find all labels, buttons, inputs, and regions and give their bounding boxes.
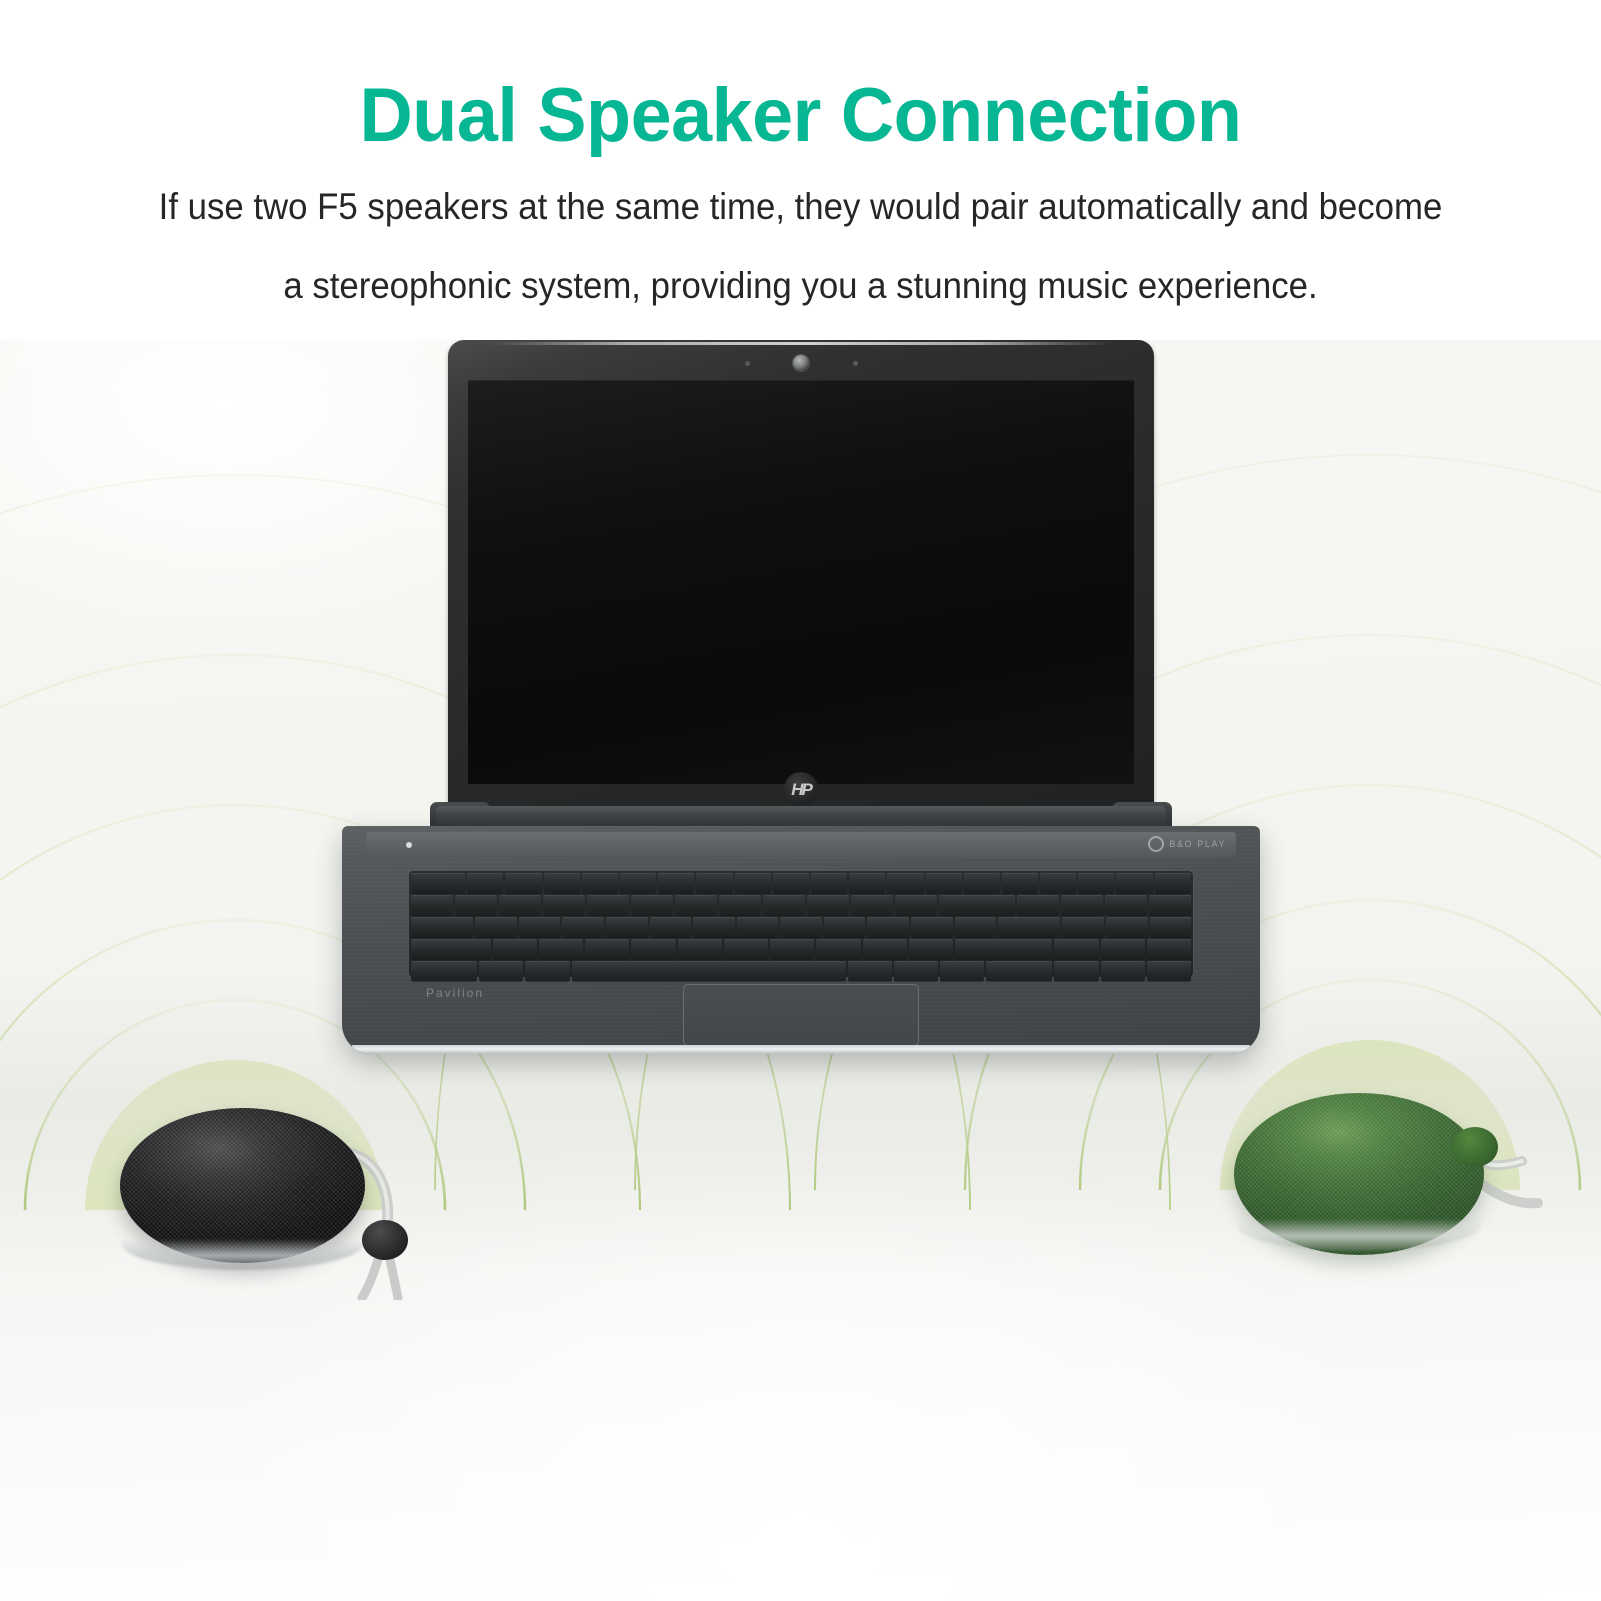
- speaker-left: [110, 1100, 410, 1300]
- key: [658, 873, 694, 893]
- keyboard: [408, 870, 1194, 978]
- key: [675, 895, 717, 915]
- key: [1155, 873, 1191, 893]
- keyboard-row: [411, 873, 1191, 893]
- key: [998, 917, 1060, 937]
- key: [499, 895, 541, 915]
- key: [926, 873, 962, 893]
- laptop: HP B&O PLAY: [336, 340, 1266, 1060]
- key: [525, 961, 569, 981]
- key: [562, 917, 604, 937]
- key: [467, 873, 503, 893]
- key: [955, 917, 997, 937]
- key: [763, 895, 805, 915]
- key: [1147, 939, 1191, 959]
- key: [505, 873, 541, 893]
- key: [1002, 873, 1038, 893]
- microphone-icon: [745, 361, 750, 366]
- key: [411, 961, 477, 981]
- speaker-left-rim: [122, 1218, 363, 1270]
- key: [986, 961, 1052, 981]
- key: [737, 917, 779, 937]
- audio-badge-ring-icon: [1148, 836, 1164, 852]
- laptop-front-edge: [352, 1045, 1250, 1054]
- subtitle-line-2: a stereophonic system, providing you a s…: [48, 225, 1553, 304]
- laptop-speaker-grille: [366, 832, 1236, 858]
- key: [411, 873, 465, 893]
- speaker-right-lanyard-bead: [1452, 1127, 1498, 1167]
- key: [411, 939, 491, 959]
- key: [824, 917, 866, 937]
- key: [696, 873, 732, 893]
- hp-logo-text: HP: [791, 781, 811, 798]
- key: [1078, 873, 1114, 893]
- key: [582, 873, 618, 893]
- key: [678, 939, 722, 959]
- key: [1149, 895, 1191, 915]
- key: [606, 917, 648, 937]
- key: [544, 873, 580, 893]
- product-feature-banner: Dual Speaker Connection If use two F5 sp…: [0, 0, 1601, 1601]
- key: [475, 917, 517, 937]
- key: [867, 917, 909, 937]
- key: [650, 917, 692, 937]
- key: [816, 939, 860, 959]
- key: [479, 961, 523, 981]
- key: [585, 939, 629, 959]
- banner-header: Dual Speaker Connection If use two F5 sp…: [0, 0, 1601, 340]
- key: [735, 873, 771, 893]
- key: [620, 873, 656, 893]
- key: [773, 873, 809, 893]
- key: [1054, 939, 1098, 959]
- key: [1150, 917, 1192, 937]
- webcam-icon: [793, 355, 809, 371]
- key: [631, 939, 675, 959]
- key: [455, 895, 497, 915]
- subtitle-line-1: If use two F5 speakers at the same time,…: [48, 154, 1553, 225]
- key: [909, 939, 953, 959]
- key: [849, 873, 885, 893]
- key: [955, 939, 1052, 959]
- hp-logo-icon: HP: [784, 772, 818, 806]
- key: [493, 939, 537, 959]
- key: [693, 917, 735, 937]
- key: [1101, 961, 1145, 981]
- key: [631, 895, 673, 915]
- key-space: [572, 961, 846, 981]
- key: [940, 961, 984, 981]
- key: [780, 917, 822, 937]
- keyboard-row: [411, 917, 1191, 937]
- key: [539, 939, 583, 959]
- key: [519, 917, 561, 937]
- laptop-model-label: Pavilion: [426, 986, 484, 1000]
- key: [894, 961, 938, 981]
- key: [848, 961, 892, 981]
- key: [1147, 961, 1191, 981]
- power-indicator-icon: [406, 842, 412, 848]
- key: [587, 895, 629, 915]
- key: [895, 895, 937, 915]
- key: [543, 895, 585, 915]
- key: [770, 939, 814, 959]
- trackpad: [683, 984, 919, 1046]
- key: [1054, 961, 1098, 981]
- key: [911, 917, 953, 937]
- audio-brand-badge: B&O PLAY: [1148, 836, 1226, 852]
- key: [887, 873, 923, 893]
- microphone-icon: [853, 361, 858, 366]
- speaker-right-rim: [1236, 1197, 1482, 1251]
- key: [411, 895, 453, 915]
- audio-badge-text: B&O PLAY: [1169, 839, 1226, 849]
- key: [1061, 895, 1103, 915]
- laptop-deck: B&O PLAY: [342, 826, 1260, 1054]
- key: [1040, 873, 1076, 893]
- key: [1105, 895, 1147, 915]
- key: [411, 917, 473, 937]
- key: [1062, 917, 1104, 937]
- keyboard-row: [411, 939, 1191, 959]
- key: [939, 895, 1015, 915]
- speaker-right: [1216, 1075, 1546, 1295]
- keyboard-row: [411, 961, 1191, 981]
- key: [724, 939, 768, 959]
- laptop-screen: [468, 380, 1134, 784]
- key: [1116, 873, 1152, 893]
- key: [1017, 895, 1059, 915]
- keyboard-row: [411, 895, 1191, 915]
- key: [807, 895, 849, 915]
- key: [719, 895, 761, 915]
- key: [851, 895, 893, 915]
- key: [811, 873, 847, 893]
- key: [964, 873, 1000, 893]
- speaker-left-lanyard-bead: [362, 1220, 408, 1260]
- key: [863, 939, 907, 959]
- laptop-lid: HP: [448, 340, 1154, 812]
- key: [1106, 917, 1148, 937]
- page-title: Dual Speaker Connection: [24, 0, 1577, 154]
- key: [1101, 939, 1145, 959]
